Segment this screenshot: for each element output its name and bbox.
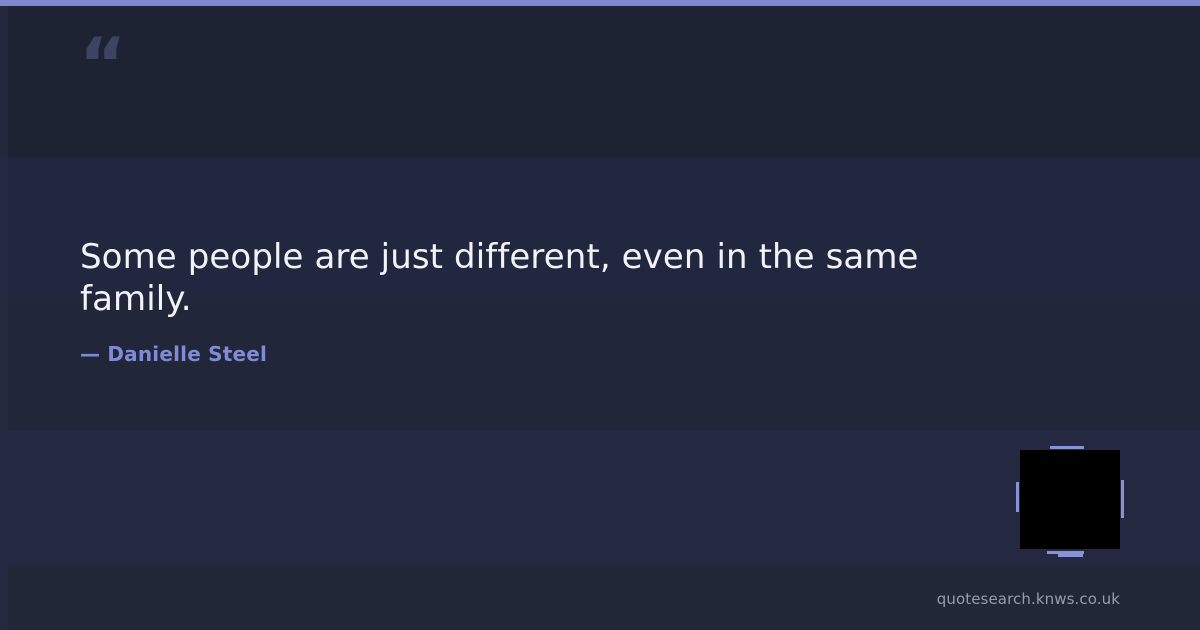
site-watermark: quotesearch.knws.co.uk (937, 590, 1120, 608)
embedded-widget[interactable] (1020, 450, 1120, 549)
top-accent-bar (0, 0, 1200, 6)
widget-occluder (1020, 450, 1120, 549)
widget-edge-mark-left (1016, 482, 1019, 512)
widget-edge-mark-bottom-secondary (1058, 554, 1083, 557)
background-left-edge-strip (0, 6, 8, 630)
widget-edge-mark-right (1121, 480, 1124, 518)
quote-body: Some people are just different, even in … (80, 236, 920, 366)
quote-text: Some people are just different, even in … (80, 236, 920, 320)
widget-edge-mark-top (1050, 446, 1084, 449)
background-band (0, 6, 1200, 158)
quote-attribution: — Danielle Steel (80, 342, 920, 366)
quote-card: “ Some people are just different, even i… (0, 0, 1200, 630)
open-quote-icon: “ (79, 28, 124, 100)
